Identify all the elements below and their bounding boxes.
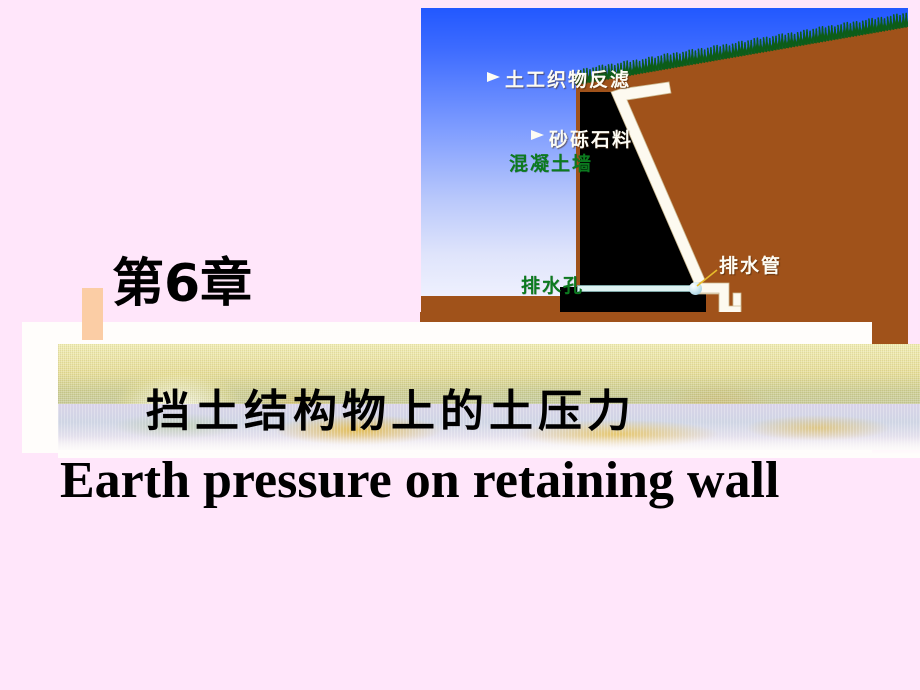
label-gravel-backfill: 砂砾石料: [549, 125, 633, 152]
gravel-arrow-icon: [531, 130, 544, 140]
label-geotextile: 土工织物反滤: [505, 65, 631, 92]
title-english: Earth pressure on retaining wall: [60, 452, 779, 509]
peach-accent-bar: [82, 288, 103, 340]
slide-canvas: 混凝土墙 土工织物反滤 砂砾石料 排水孔 排水管 第6章 挡土结构物上的土压力 …: [0, 0, 920, 690]
drain-pipe-leader-line: [421, 8, 908, 358]
label-concrete-wall: 混凝土墙: [509, 149, 593, 176]
title-chinese: 挡土结构物上的土压力: [146, 390, 636, 434]
retaining-wall-diagram: 混凝土墙 土工织物反滤 砂砾石料 排水孔 排水管: [421, 8, 908, 358]
label-weep-hole: 排水孔: [521, 271, 584, 298]
chapter-label: 第6章: [112, 258, 252, 310]
geotextile-arrow-icon: [487, 72, 500, 82]
label-drain-pipe: 排水管: [719, 251, 782, 278]
